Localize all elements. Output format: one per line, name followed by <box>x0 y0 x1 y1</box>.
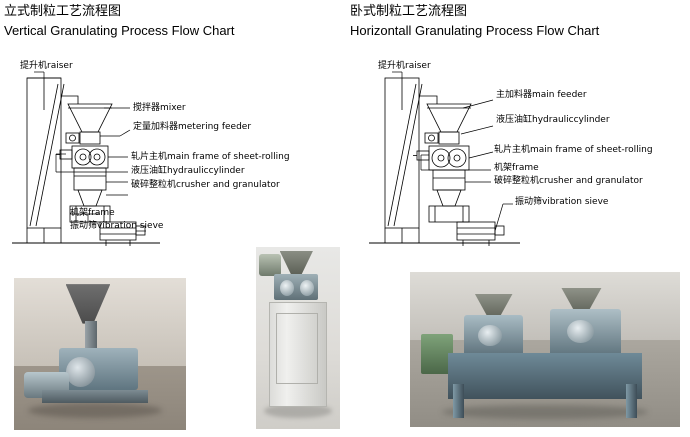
label-raiser: 提升机raiser <box>20 61 73 72</box>
label-hydraulic-cylinder: 液压油缸hydrauliccylinder <box>131 166 245 177</box>
label-vibration-sieve: 振动筛vibration sieve <box>70 221 163 232</box>
label-hydraulic-cylinder: 液压油缸hydrauliccylinder <box>496 115 610 126</box>
horizontal-flow-diagram <box>345 0 690 260</box>
label-metering-feeder: 定量加料器metering feeder <box>133 122 251 133</box>
label-crusher-granulator: 破碎整粒机crusher and granulator <box>494 176 643 187</box>
label-crusher-granulator: 破碎整粒机crusher and granulator <box>131 180 280 191</box>
photo-vertical-machine-installed <box>14 278 186 430</box>
label-mixer: 搅拌器mixer <box>133 103 186 114</box>
label-frame: 机架frame <box>494 163 539 174</box>
label-main-frame: 轧片主机main frame of sheet-rolling <box>494 145 653 156</box>
photo-horizontal-granulating-line <box>410 272 680 427</box>
label-frame: 机架frame <box>70 208 115 219</box>
label-vibration-sieve: 振动筛vibration sieve <box>515 197 608 208</box>
label-main-frame: 轧片主机main frame of sheet-rolling <box>131 152 290 163</box>
photo-vertical-granulator-unit <box>256 247 340 429</box>
label-raiser: 提升机raiser <box>378 61 431 72</box>
label-main-feeder: 主加料器main feeder <box>496 90 587 101</box>
